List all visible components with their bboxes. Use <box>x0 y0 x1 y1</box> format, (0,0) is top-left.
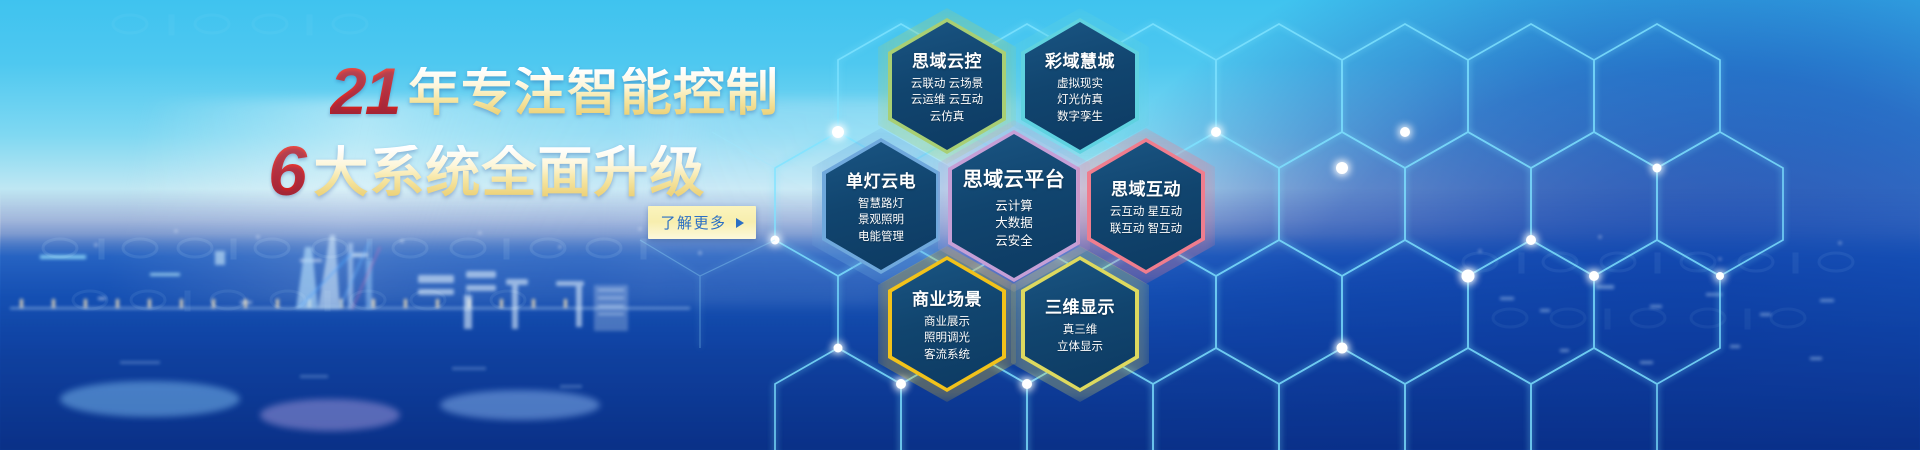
headline-block: 21 年专注智能控制 6 大系统全面升级 <box>330 58 800 206</box>
hex-node-lines: 智慧路灯景观照明电能管理 <box>858 197 904 245</box>
hex-node-line: 云运维 云互动 <box>911 93 983 108</box>
hex-node-line: 大数据 <box>995 215 1033 232</box>
learn-more-label: 了解更多 <box>660 212 726 233</box>
headline-text-2: 大系统全面升级 <box>313 145 705 200</box>
hex-node-dandeng-yundian[interactable]: 单灯云电智慧路灯景观照明电能管理 <box>822 138 940 274</box>
hex-node-lines: 真三维立体显示 <box>1057 323 1103 354</box>
promo-banner: 21 年专注智能控制 6 大系统全面升级 了解更多 思域云控云联动 云场景云运维… <box>0 0 1920 450</box>
hex-node-line: 景观照明 <box>858 213 904 228</box>
hex-node-title: 三维显示 <box>1045 293 1115 318</box>
hex-node-line: 客流系统 <box>924 348 970 363</box>
hex-node-title: 思域云控 <box>912 47 982 72</box>
hex-node-line: 电能管理 <box>858 230 904 245</box>
hex-node-line: 虚拟现实 <box>1057 77 1103 92</box>
hex-node-content: 商业场景商业展示照明调光客流系统 <box>888 256 1006 392</box>
hex-node-line: 灯光仿真 <box>1057 93 1103 108</box>
hex-node-title: 思域云平台 <box>963 163 1066 192</box>
hex-node-lines: 云联动 云场景云运维 云互动云仿真 <box>911 77 983 125</box>
hex-node-title: 商业场景 <box>912 285 982 310</box>
hex-node-line: 云联动 云场景 <box>911 77 983 92</box>
hex-node-title: 思域互动 <box>1111 175 1181 200</box>
headline-line-2: 6 大系统全面升级 <box>268 136 800 206</box>
hex-node-content: 单灯云电智慧路灯景观照明电能管理 <box>822 138 940 274</box>
hex-node-title: 单灯云电 <box>846 167 916 192</box>
hex-node-content: 三维显示真三维立体显示 <box>1021 256 1139 392</box>
hex-node-content: 思域互动云互动 星互动联互动 智互动 <box>1087 138 1205 274</box>
hex-node-siyu-hudong[interactable]: 思域互动云互动 星互动联互动 智互动 <box>1087 138 1205 274</box>
hex-node-shangye-changjing[interactable]: 商业场景商业展示照明调光客流系统 <box>888 256 1006 392</box>
headline-text-1: 年专注智能控制 <box>408 67 779 119</box>
headline-line-1: 21 年专注智能控制 <box>330 58 800 124</box>
hex-node-line: 云互动 星互动 <box>1110 205 1182 220</box>
headline-number-6: 6 <box>268 136 309 206</box>
hex-node-lines: 虚拟现实灯光仿真数字孪生 <box>1057 77 1103 125</box>
hex-node-title: 彩域慧城 <box>1045 47 1115 72</box>
hex-node-line: 智慧路灯 <box>858 197 904 212</box>
hex-node-line: 联互动 智互动 <box>1110 222 1182 237</box>
hex-node-lines: 云计算大数据云安全 <box>995 198 1033 250</box>
hex-node-line: 立体显示 <box>1057 340 1103 355</box>
learn-more-button[interactable]: 了解更多 <box>648 206 756 239</box>
hexagon-node-cluster: 思域云控云联动 云场景云运维 云互动云仿真彩域慧城虚拟现实灯光仿真数字孪生单灯云… <box>0 0 1920 450</box>
hex-node-line: 云仿真 <box>911 110 983 125</box>
hex-node-line: 商业展示 <box>924 315 970 330</box>
hex-node-line: 数字孪生 <box>1057 110 1103 125</box>
headline-number-21: 21 <box>330 58 403 124</box>
play-triangle-icon <box>736 218 744 228</box>
hex-node-line: 云计算 <box>995 198 1033 215</box>
hex-node-line: 真三维 <box>1057 323 1103 338</box>
hex-node-lines: 商业展示照明调光客流系统 <box>924 315 970 363</box>
hex-node-sanwei-xianshi[interactable]: 三维显示真三维立体显示 <box>1021 256 1139 392</box>
hex-node-line: 照明调光 <box>924 331 970 346</box>
hex-node-line: 云安全 <box>995 233 1033 250</box>
hex-node-lines: 云互动 星互动联互动 智互动 <box>1110 205 1182 236</box>
